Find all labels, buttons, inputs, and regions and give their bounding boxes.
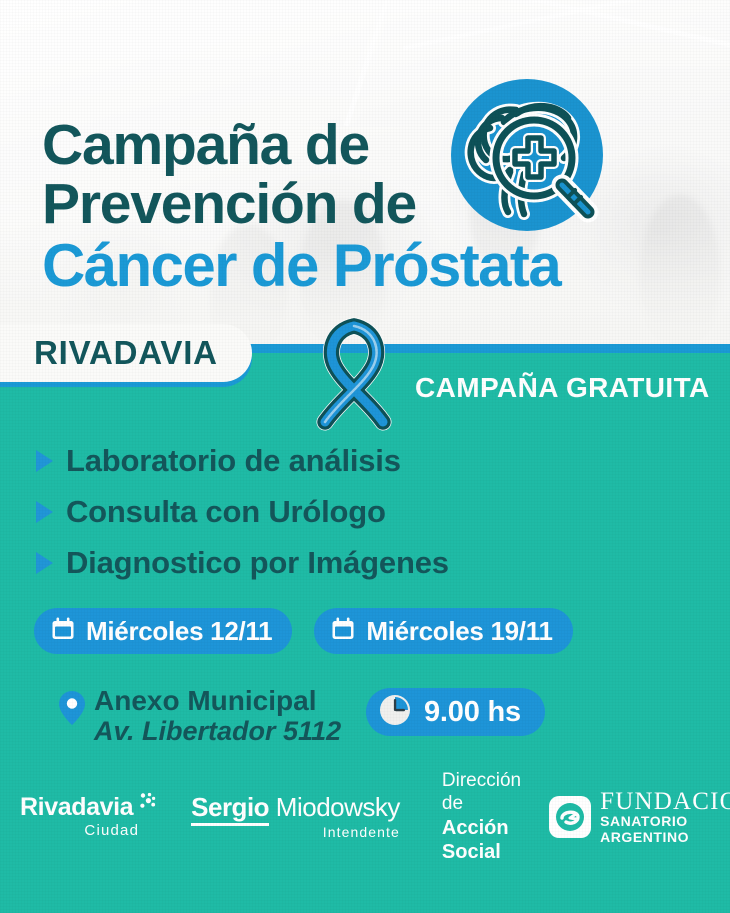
service-label: Consulta con Urólogo (66, 494, 386, 530)
mayor-name: Sergio Miodowsky (191, 794, 400, 821)
title-line-1: Campaña de (42, 118, 560, 173)
venue-block: Anexo Municipal Av. Libertador 5112 (58, 686, 341, 746)
venue-address: Av. Libertador 5112 (94, 716, 341, 746)
rivadavia-badge: RIVADAVIA (0, 324, 252, 382)
rivadavia-logo-top: Rivadavia (20, 795, 157, 820)
triangle-bullet-icon (36, 501, 53, 523)
service-label: Diagnostico por Imágenes (66, 545, 449, 581)
list-item: Diagnostico por Imágenes (36, 539, 449, 587)
campaign-poster: Campaña de Prevención de Cáncer de Próst… (0, 0, 730, 913)
fundacion-line-2: SANATORIO ARGENTINO (600, 814, 730, 845)
time-pill: 9.00 hs (366, 688, 545, 736)
date-label: Miércoles 12/11 (86, 616, 272, 647)
footer-logos: Rivadavia Ciudad Sergio Miodowsky Intend (0, 786, 730, 848)
list-item: Laboratorio de análisis (36, 437, 449, 485)
date-pill-1: Miércoles 12/11 (34, 608, 292, 654)
rivadavia-logo-name: Rivadavia (20, 795, 133, 820)
services-list: Laboratorio de análisis Consulta con Uró… (36, 437, 449, 590)
direccion-line-2: Acción Social (442, 816, 521, 864)
rivadavia-badge-label: RIVADAVIA (34, 334, 218, 372)
poster-title: Campaña de Prevención de Cáncer de Próst… (42, 118, 560, 295)
dot-cluster-icon (135, 792, 157, 819)
triangle-bullet-icon (36, 552, 53, 574)
fundacion-texts: FUNDACION SANATORIO ARGENTINO (600, 789, 730, 845)
calendar-icon (50, 616, 76, 647)
mayor-first-name: Sergio (191, 792, 269, 826)
time-label: 9.00 hs (424, 696, 521, 729)
calendar-icon (330, 616, 356, 647)
direccion-line-1: Dirección de (442, 770, 521, 816)
free-campaign-tagline: CAMPAÑA GRATUITA (415, 372, 710, 404)
title-line-2: Prevención de (42, 177, 560, 232)
awareness-ribbon-icon (297, 316, 409, 434)
mayor-logo: Sergio Miodowsky Intendente (191, 794, 400, 840)
clock-icon (378, 693, 412, 732)
rivadavia-city-logo: Rivadavia Ciudad (20, 795, 157, 839)
rivadavia-logo-subtitle: Ciudad (84, 822, 139, 839)
venue-texts: Anexo Municipal Av. Libertador 5112 (94, 686, 341, 746)
title-line-3: Cáncer de Próstata (42, 237, 560, 295)
service-label: Laboratorio de análisis (66, 443, 401, 479)
fundacion-logo: FUNDACION SANATORIO ARGENTINO (549, 789, 730, 845)
direccion-accion-social-logo: Dirección de Acción Social (442, 770, 521, 864)
fundacion-logo-icon (549, 796, 591, 838)
fundacion-line-1: FUNDACION (600, 789, 730, 815)
location-pin-icon (58, 690, 86, 731)
venue-name: Anexo Municipal (94, 686, 341, 716)
mayor-last-name: Miodowsky (276, 792, 400, 822)
mayor-subtitle: Intendente (323, 824, 400, 840)
date-pill-2: Miércoles 19/11 (314, 608, 572, 654)
dates-row: Miércoles 12/11 Miércoles 19/11 (34, 608, 573, 654)
list-item: Consulta con Urólogo (36, 488, 449, 536)
date-label: Miércoles 19/11 (366, 616, 552, 647)
triangle-bullet-icon (36, 450, 53, 472)
